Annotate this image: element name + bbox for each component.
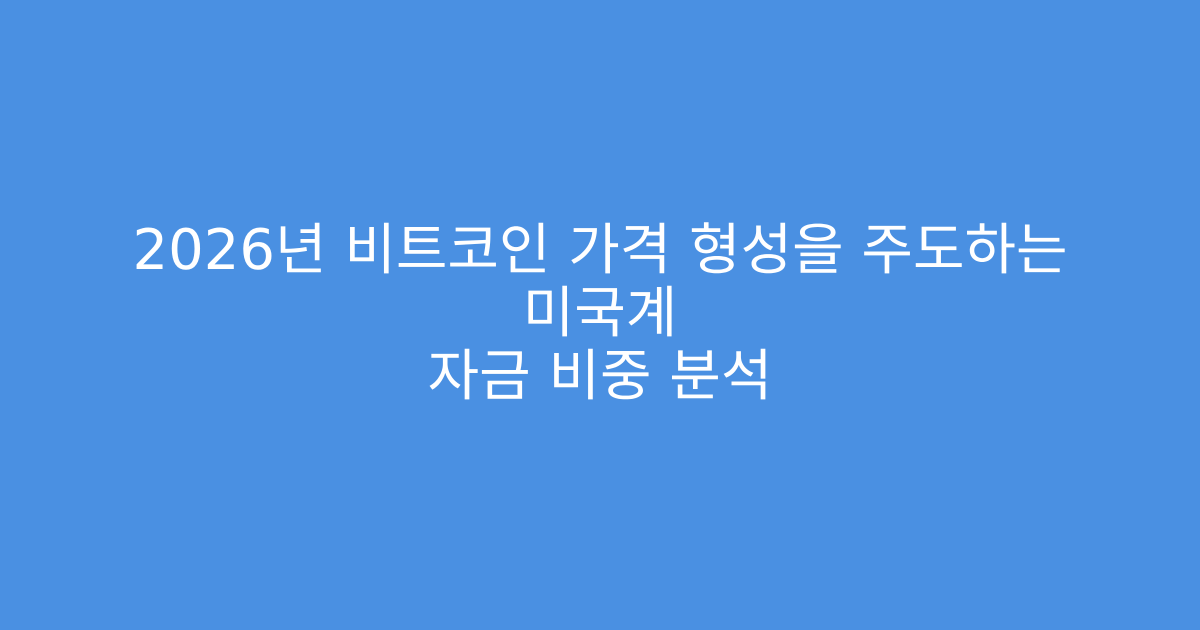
page-title: 2026년 비트코인 가격 형성을 주도하는 미국계 자금 비중 분석	[96, 219, 1104, 408]
og-card: 2026년 비트코인 가격 형성을 주도하는 미국계 자금 비중 분석	[0, 0, 1200, 630]
title-block: 2026년 비트코인 가격 형성을 주도하는 미국계 자금 비중 분석	[96, 219, 1104, 408]
